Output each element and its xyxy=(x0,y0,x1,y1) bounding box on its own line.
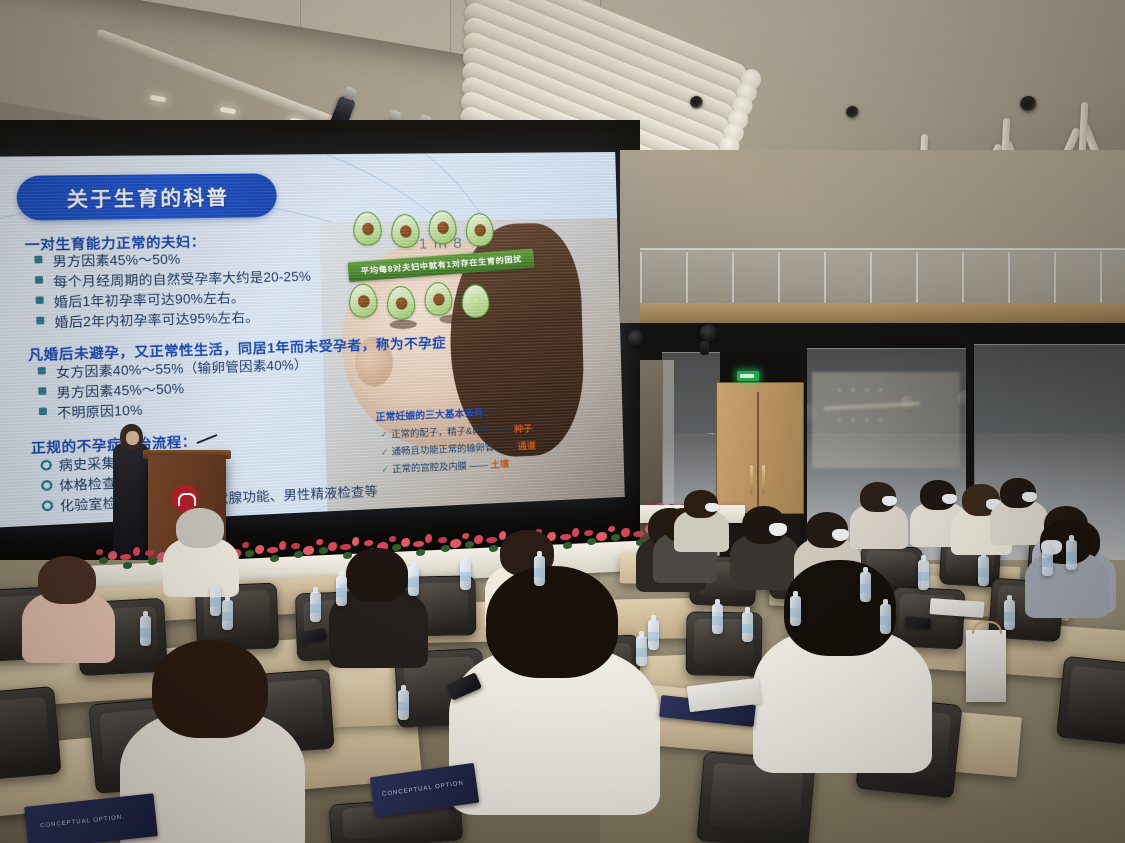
water-bottle xyxy=(408,566,419,596)
downlight xyxy=(846,106,859,119)
flower xyxy=(328,542,337,551)
rail-post xyxy=(1054,252,1056,306)
presenter-body xyxy=(113,443,149,573)
water-bottle xyxy=(222,600,233,630)
flower-leaf xyxy=(392,544,401,551)
door-split xyxy=(757,392,759,512)
rail-post xyxy=(640,252,642,306)
check-icon: ✓ xyxy=(380,429,388,440)
wooden-exit-door[interactable] xyxy=(716,382,804,514)
attendee-hair xyxy=(38,556,96,604)
water-bottle xyxy=(534,556,545,586)
attendee-hair xyxy=(346,548,408,602)
flower xyxy=(462,533,469,539)
water-bottle xyxy=(140,616,151,646)
door-handle[interactable] xyxy=(762,465,765,495)
rail-post xyxy=(824,252,826,306)
slide-section3-item: 体格检查 xyxy=(59,472,117,495)
avocado-icon xyxy=(465,213,494,247)
door-handle[interactable] xyxy=(750,465,753,495)
led-presentation-screen: 关于生育的科普 一对生育能力正常的夫妇： 男方因素45%～50% 每个月经周期的… xyxy=(0,152,625,528)
face-mask xyxy=(882,496,896,506)
slide-section1-item: 男方因素45%～50% xyxy=(52,248,180,271)
gift-bag[interactable] xyxy=(966,630,1006,702)
flower-leaf xyxy=(416,549,425,556)
water-bottle xyxy=(880,604,891,634)
water-bottle xyxy=(310,592,321,622)
check-icon: ✓ xyxy=(381,464,389,475)
flower xyxy=(145,550,154,556)
flower xyxy=(560,534,571,540)
flower-leaf xyxy=(465,541,474,548)
water-bottle xyxy=(712,604,723,634)
booklet-title: CONCEPTUAL OPTION xyxy=(382,780,464,797)
water-bottle xyxy=(1066,540,1077,570)
face-mask xyxy=(1022,492,1036,502)
water-bottle xyxy=(860,572,871,602)
flower xyxy=(279,541,286,550)
water-bottle xyxy=(1004,600,1015,630)
flower-leaf xyxy=(441,545,450,552)
slide-bullet xyxy=(36,296,44,304)
face-mask xyxy=(832,529,849,541)
rail-post xyxy=(778,252,780,306)
water-bottle xyxy=(636,636,647,666)
reflection-avocado-row xyxy=(832,412,892,428)
chair xyxy=(0,686,62,782)
slide-bullet xyxy=(39,407,47,415)
downlight xyxy=(690,96,703,109)
flower xyxy=(413,541,424,547)
booklet-title: CONCEPTUAL OPTION xyxy=(40,815,123,830)
downlight xyxy=(1020,96,1037,113)
attendee-hair xyxy=(152,640,268,738)
exit-sign-icon xyxy=(737,371,759,381)
flower-leaf xyxy=(148,558,157,565)
flower xyxy=(316,539,323,545)
water-bottle xyxy=(790,596,801,626)
flower xyxy=(389,536,396,542)
slide-section2-item: 不明原因10% xyxy=(57,399,143,422)
rail-post xyxy=(1100,252,1102,306)
slide-title: 关于生育的科普 xyxy=(66,182,229,213)
conference-hall-photo: 关于生育的科普 一对生育能力正常的夫妇： 男方因素45%～50% 每个月经周期的… xyxy=(0,0,1125,843)
water-bottle xyxy=(1042,546,1053,576)
rail-post xyxy=(732,252,734,306)
rail-post xyxy=(962,252,964,306)
water-bottle xyxy=(460,560,471,590)
flower xyxy=(133,547,140,556)
rail-post xyxy=(870,252,872,306)
mezzanine-glass-railing xyxy=(640,248,1125,310)
flower xyxy=(450,539,461,548)
podium-logo-icon xyxy=(172,485,198,511)
slide-bullet xyxy=(36,317,44,325)
water-bottle xyxy=(978,556,989,586)
face-mask xyxy=(942,494,956,504)
water-bottle xyxy=(918,560,929,590)
chair xyxy=(1056,656,1125,747)
slide-title-pill: 关于生育的科普 xyxy=(16,173,277,221)
presenter-face xyxy=(126,431,139,445)
rail-post xyxy=(686,252,688,306)
water-bottle xyxy=(742,612,753,642)
flower xyxy=(633,531,644,537)
attendee-hair xyxy=(486,566,618,678)
water-bottle xyxy=(336,576,347,606)
slide-bullet xyxy=(35,276,43,284)
mezzanine-wood-fascia xyxy=(640,303,1125,325)
reflection-avocado-row xyxy=(832,382,892,398)
slide-bullet xyxy=(38,387,46,395)
slide-bullet xyxy=(38,367,46,375)
flower-leaf xyxy=(563,542,572,549)
flower xyxy=(438,537,447,543)
wall-speaker xyxy=(700,324,718,342)
rail-post xyxy=(916,252,918,306)
rail-post xyxy=(1008,252,1010,306)
wall-speaker xyxy=(628,330,644,346)
flower xyxy=(572,528,579,537)
attendee-hair xyxy=(176,508,224,548)
water-bottle xyxy=(648,620,659,650)
slide-surface: 关于生育的科普 一对生育能力正常的夫妇： 男方因素45%～50% 每个月经周期的… xyxy=(0,152,625,528)
flower xyxy=(255,545,264,554)
water-bottle xyxy=(210,586,221,616)
slide-bullet xyxy=(34,256,42,264)
flower-leaf xyxy=(319,547,328,554)
check-icon: ✓ xyxy=(381,447,389,458)
surveillance-camera-icon xyxy=(700,341,709,355)
water-bottle xyxy=(398,690,409,720)
